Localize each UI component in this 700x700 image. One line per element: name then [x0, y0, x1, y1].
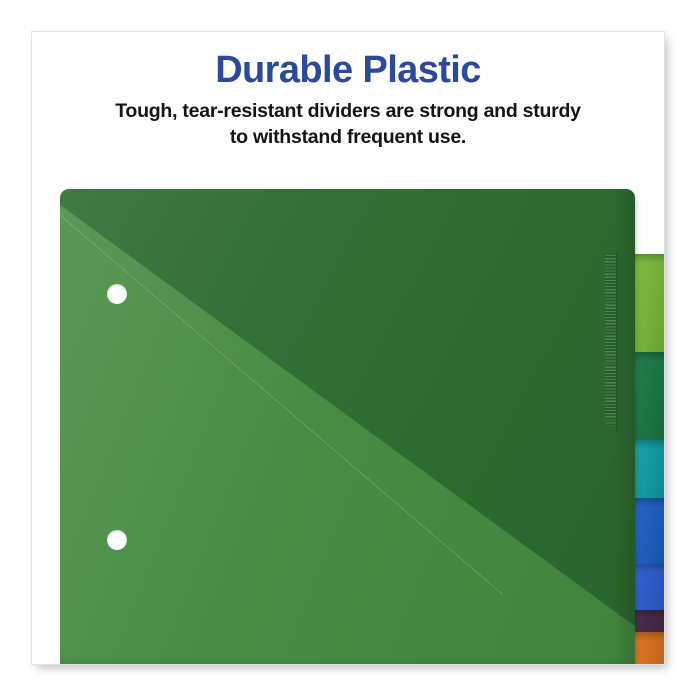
page-title: Durable Plastic: [32, 51, 664, 91]
product-description-line-2: to withstand frequent use.: [48, 125, 648, 151]
plastic-pocket-divider: [60, 189, 635, 665]
product-image-canvas: Durable Plastic Tough, tear-resistant di…: [0, 0, 700, 700]
product-description-line-1: Tough, tear-resistant dividers are stron…: [48, 99, 648, 125]
punch-hole-top: [107, 284, 127, 304]
product-description: Tough, tear-resistant dividers are stron…: [48, 99, 648, 151]
product-card: Durable Plastic Tough, tear-resistant di…: [31, 31, 665, 665]
punch-hole-bottom: [107, 530, 127, 550]
divider-right-shadow: [613, 189, 635, 665]
divider-bottom-shadow: [60, 657, 635, 665]
